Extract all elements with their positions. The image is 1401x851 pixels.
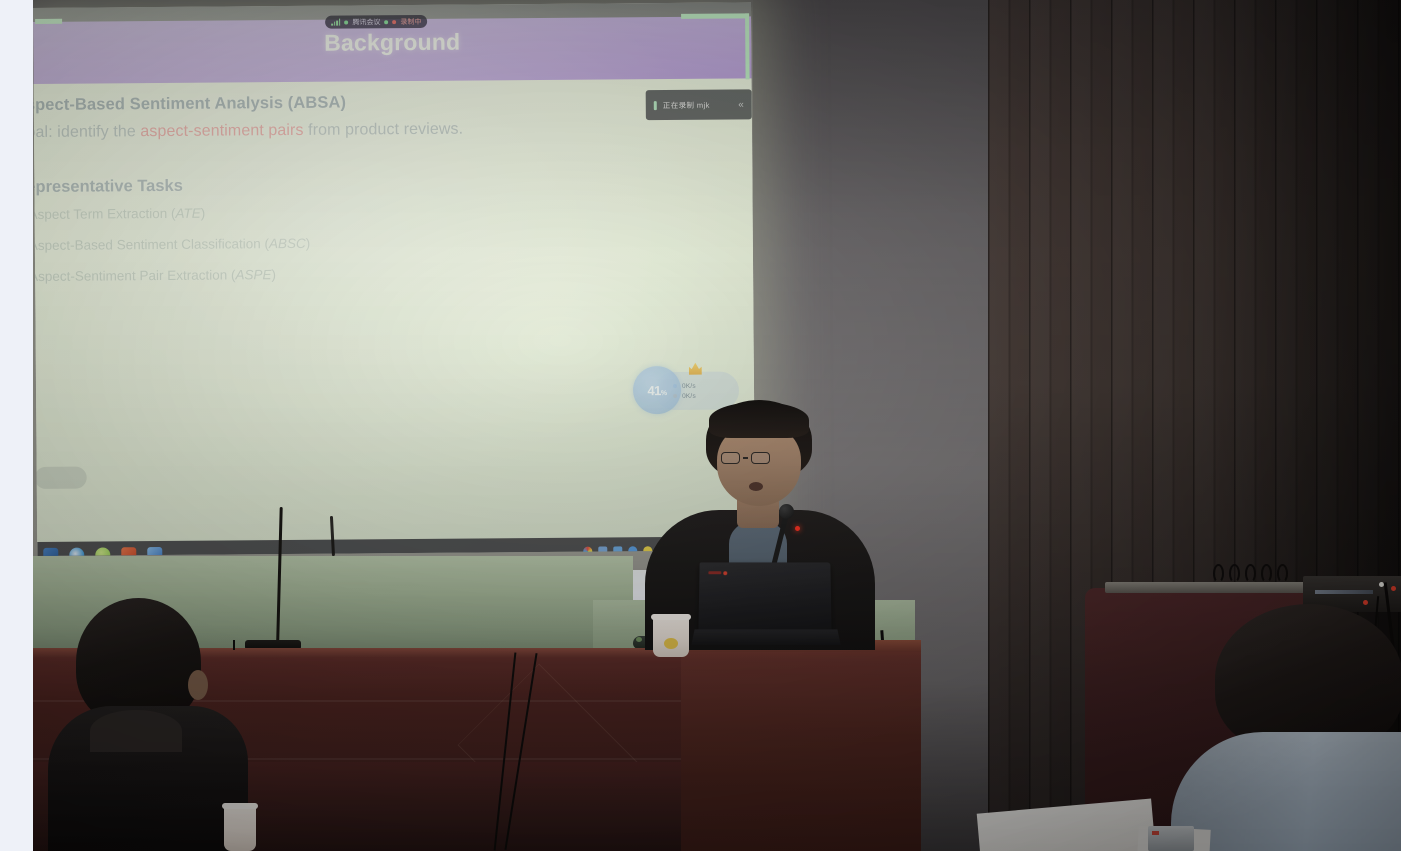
header-accent-right xyxy=(681,13,749,19)
meeting-name-label: 腾讯会议 xyxy=(352,17,380,27)
meeting-status-bar[interactable]: 腾讯会议 录制中 xyxy=(325,15,427,29)
cable-coil-5 xyxy=(1277,564,1288,583)
paper-cup-audience-left xyxy=(224,806,256,851)
recording-dot-icon xyxy=(392,20,396,24)
handheld-device[interactable] xyxy=(1148,826,1194,851)
audience-left-collar xyxy=(90,710,182,752)
goal-highlight: aspect-sentiment pairs xyxy=(140,122,303,140)
image-left-edge xyxy=(0,0,33,851)
toast-text: 正在录制 mjk xyxy=(663,99,710,110)
signal-bars-icon xyxy=(331,19,340,26)
photo-scene: 腾讯会议 录制中 Background Aspect-Based Sentime… xyxy=(0,0,1401,851)
task-close: ) xyxy=(201,206,206,221)
glasses-lens-right xyxy=(751,452,770,464)
download-speed-value: 0K/s xyxy=(682,392,696,399)
cup-logo xyxy=(664,638,678,649)
rack-display-strip xyxy=(1315,590,1373,594)
header-accent-left xyxy=(35,19,62,24)
task-text: Aspect-Sentiment Pair Extraction ( xyxy=(33,267,236,284)
task-item-aspe: Aspect-Sentiment Pair Extraction (ASPE) xyxy=(33,264,715,284)
percent-value: 41 xyxy=(647,383,661,398)
cable-coil-4 xyxy=(1261,564,1272,583)
audience-left-ear xyxy=(188,670,208,700)
powerpoint-icon[interactable] xyxy=(121,547,136,556)
upload-speed-value: 0K/s xyxy=(682,382,696,389)
presenter-podium xyxy=(681,640,921,851)
cable-coil-3 xyxy=(1245,564,1256,583)
presenter-glasses-icon xyxy=(721,452,770,464)
laptop-logo xyxy=(708,571,721,574)
task-item-absc: Aspect-Based Sentiment Classification (A… xyxy=(33,233,715,253)
slide-ghost-button[interactable] xyxy=(35,467,87,489)
paper-cup-podium xyxy=(653,617,689,657)
glasses-lens-left xyxy=(721,452,740,464)
audience-member-left xyxy=(48,598,233,851)
slide-content: Aspect-Based Sentiment Analysis (ABSA) G… xyxy=(33,91,715,300)
task-abbr: ASPE xyxy=(235,267,271,282)
presenter-laptop-base xyxy=(691,629,840,645)
toast-indicator-icon xyxy=(654,101,657,110)
presenter-hair-front xyxy=(709,402,809,438)
presenter-microphone-head-icon xyxy=(779,504,794,519)
task-abbr: ATE xyxy=(175,206,200,221)
upload-row: 0K/s xyxy=(673,382,739,390)
cable-5 xyxy=(233,640,235,650)
task-close: ) xyxy=(271,267,276,282)
laptop-logo-dot xyxy=(723,571,727,575)
green-app-icon[interactable] xyxy=(95,547,110,556)
cup-lid xyxy=(222,803,258,809)
tasks-heading: Representative Tasks xyxy=(33,173,714,197)
meeting-active-dot-icon xyxy=(344,20,348,24)
percent-unit: % xyxy=(661,390,667,397)
internet-explorer-icon[interactable] xyxy=(69,547,84,556)
mic-dot-icon xyxy=(384,20,388,24)
task-close: ) xyxy=(306,236,311,251)
goal-suffix: from product reviews. xyxy=(303,121,463,139)
recording-toast[interactable]: 正在录制 mjk « xyxy=(646,89,752,120)
cable-coil-2 xyxy=(1229,564,1240,583)
cable-coils xyxy=(1213,564,1297,584)
presenter-mouth xyxy=(749,482,763,491)
blue-app-icon[interactable] xyxy=(147,547,162,556)
cable-coil-1 xyxy=(1213,564,1224,583)
goal-prefix: Goal: identify the xyxy=(33,123,140,141)
task-abbr: ABSC xyxy=(269,236,306,251)
task-text: Aspect-Based Sentiment Classification ( xyxy=(33,236,269,253)
recording-label: 录制中 xyxy=(400,16,421,26)
cup-lid xyxy=(651,614,691,620)
absa-goal-line: Goal: identify the aspect-sentiment pair… xyxy=(33,119,714,142)
toast-collapse-icon[interactable]: « xyxy=(738,99,744,110)
absa-heading: Aspect-Based Sentiment Analysis (ABSA) xyxy=(33,91,714,115)
task-item-ate: Aspect Term Extraction (ATE) xyxy=(33,202,715,222)
rack-led-2 xyxy=(1391,586,1396,591)
presenter-laptop[interactable] xyxy=(698,562,831,634)
task-text: Aspect Term Extraction ( xyxy=(33,206,175,222)
glasses-bridge xyxy=(743,457,748,458)
taskbar-left-icons xyxy=(37,547,162,556)
start-icon[interactable] xyxy=(43,547,58,556)
audience-member-right xyxy=(1179,604,1401,851)
microphone-led-icon xyxy=(795,526,800,531)
conference-room: 腾讯会议 录制中 Background Aspect-Based Sentime… xyxy=(33,0,1401,851)
slide-title: Background xyxy=(33,26,751,59)
download-row: 0K/s xyxy=(673,392,739,400)
